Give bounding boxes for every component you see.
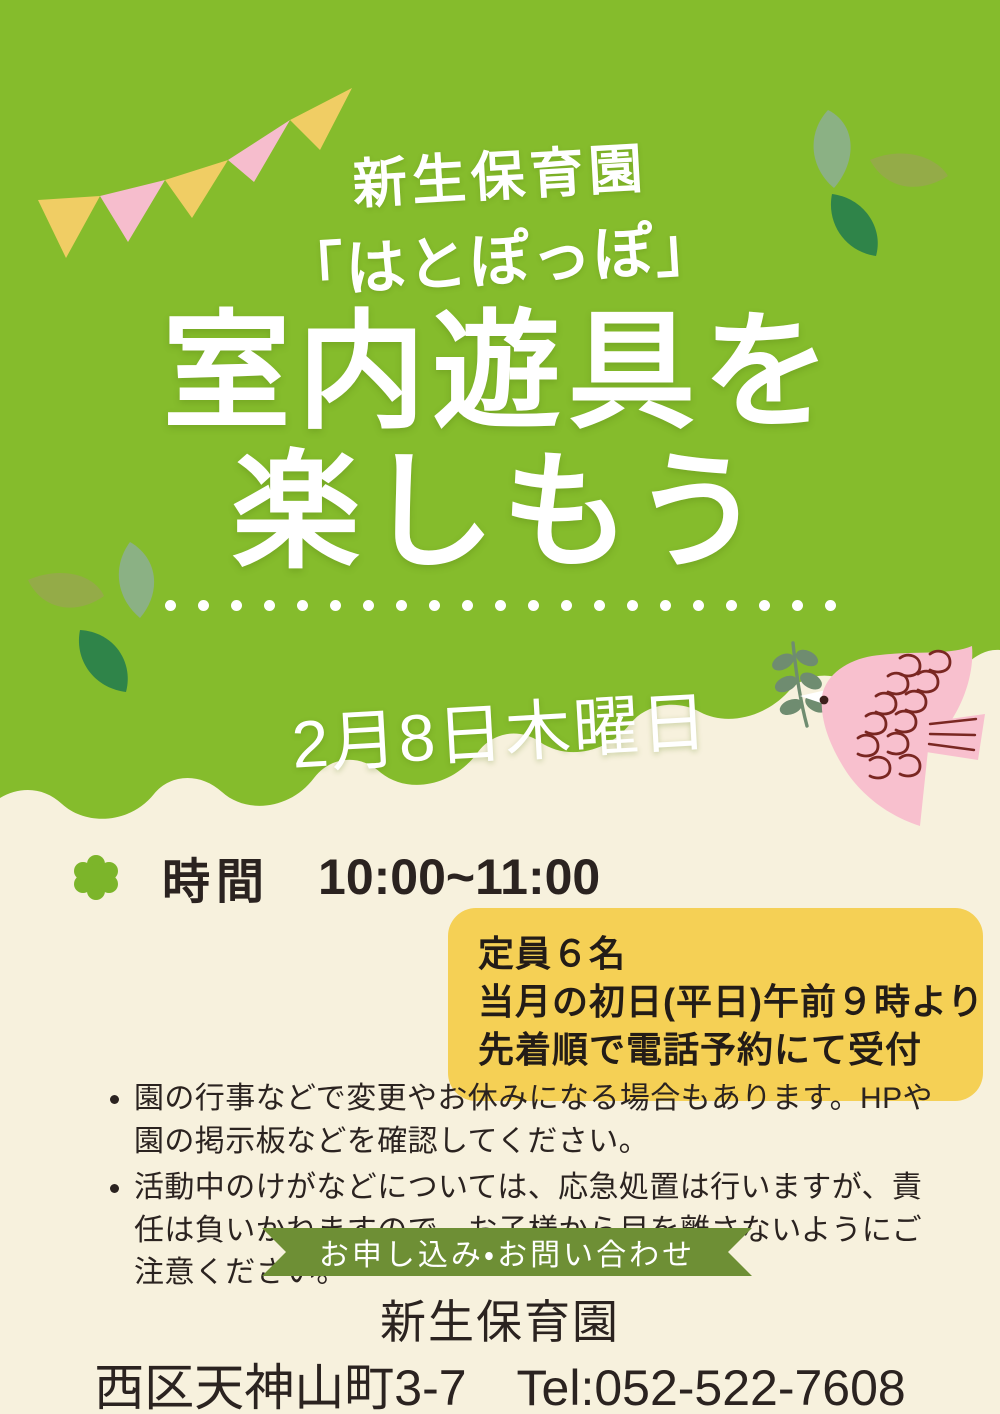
divider-dot — [330, 600, 341, 611]
footer-address-tel: 西区天神山町3-7 Tel:052-522-7608 — [0, 1348, 1000, 1414]
divider-dot — [528, 600, 539, 611]
divider-dot — [495, 600, 506, 611]
divider-dot — [198, 600, 209, 611]
note-item: 園の行事などで変更やお休みになる場合もあります。HPや園の掲示板などを確認してく… — [134, 1078, 952, 1163]
divider-dot — [660, 600, 671, 611]
clover-icon — [72, 853, 120, 901]
divider-dot — [759, 600, 770, 611]
divider-dot — [297, 600, 308, 611]
divider-dot — [561, 600, 572, 611]
time-value: 10:00~11:00 — [318, 848, 600, 906]
divider-dot — [627, 600, 638, 611]
divider-dot — [462, 600, 473, 611]
poster-title-line2: 楽しもう — [0, 448, 1000, 579]
poster-root: 新生保育園 「はとぽっぽ」 室内遊具を 楽しもう 2月8日木曜日 時間 10:0… — [0, 0, 1000, 1414]
divider-dot — [594, 600, 605, 611]
event-time-row: 時間 10:00~11:00 — [72, 842, 600, 912]
notice-line-2: 当月の初日(平日)午前９時より — [478, 978, 953, 1026]
divider-dot — [396, 600, 407, 611]
divider-dot — [165, 600, 176, 611]
divider-dot — [264, 600, 275, 611]
divider-dot — [429, 600, 440, 611]
divider-dot — [726, 600, 737, 611]
divider-dot — [792, 600, 803, 611]
footer-organization-name: 新生保育園 — [0, 1286, 1000, 1352]
divider-dot — [693, 600, 704, 611]
contact-ribbon-label: お申し込み・お問い合わせ — [262, 1228, 752, 1276]
contact-ribbon-banner: お申し込み・お問い合わせ — [262, 1228, 752, 1276]
capacity-notice-box: 定員６名 当月の初日(平日)午前９時より 先着順で電話予約にて受付 — [448, 908, 983, 1101]
notice-line-1: 定員６名 — [478, 930, 953, 978]
notice-line-3: 先着順で電話予約にて受付 — [478, 1026, 953, 1074]
time-label: 時間 — [162, 842, 270, 912]
divider-dot — [825, 600, 836, 611]
divider-dot — [231, 600, 242, 611]
dotted-divider — [0, 600, 1000, 611]
divider-dot — [363, 600, 374, 611]
poster-title-line1: 室内遊具を — [0, 308, 1000, 439]
